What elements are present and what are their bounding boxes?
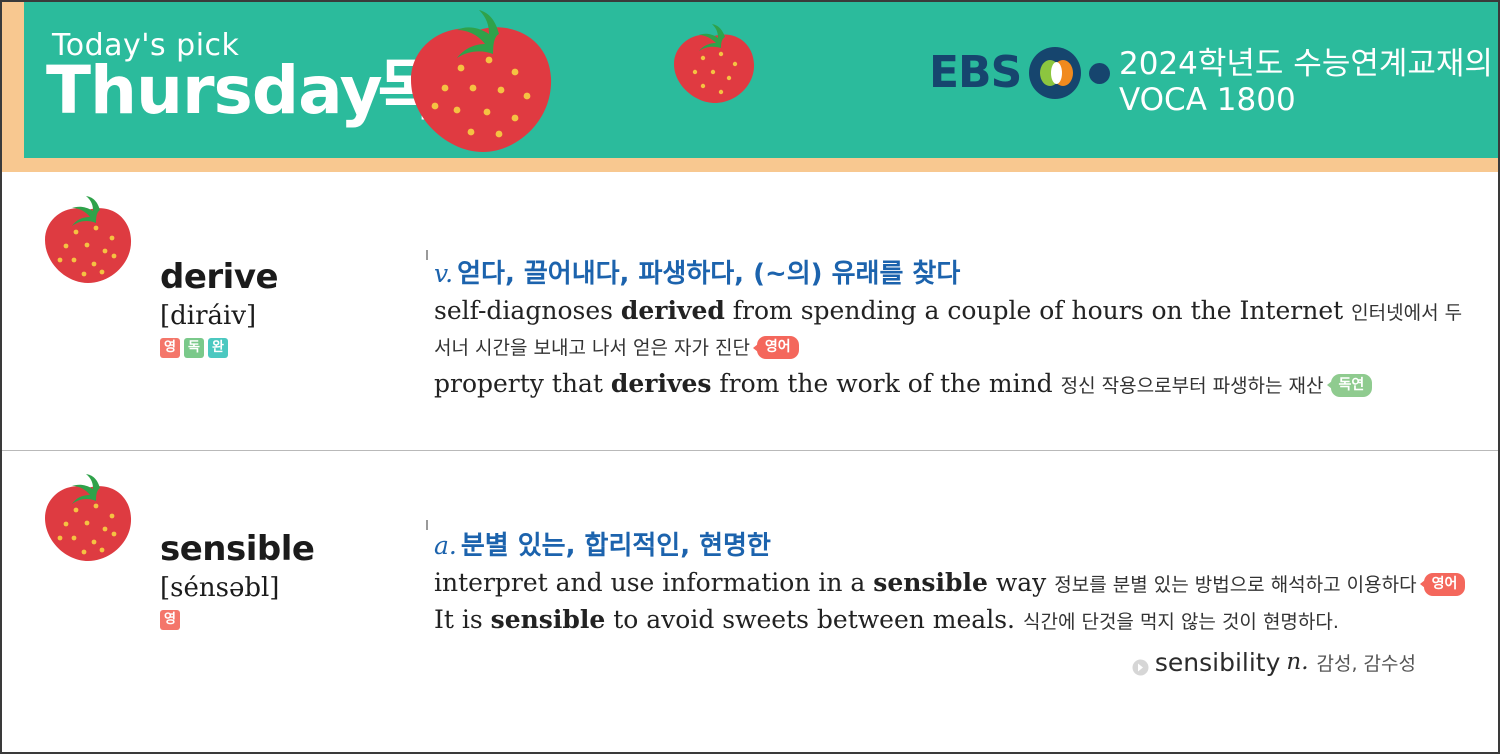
source-tag: 완 [208,338,228,358]
definition-tick-mark [426,250,428,260]
entry-divider [2,450,1498,451]
part-of-speech: a. [434,531,457,560]
entry-content: v.얻다, 끌어내다, 파생하다, (~의) 유래를 찾다 self-diagn… [434,258,1474,401]
source-tag: 독 [184,338,204,358]
ebs-wordmark: EBS [929,51,1021,95]
headword-block: derive [diráiv] 영 독 완 [160,258,410,358]
example-pre: It is [434,605,491,634]
headword: sensible [160,530,410,569]
ebs-logo-mark-icon [1029,47,1119,99]
example-pre: property that [434,369,611,398]
example-post: way [988,568,1046,597]
source-badge: 독연 [1331,374,1373,397]
strawberry-icon [42,196,134,289]
example-keyword: derives [611,369,712,398]
headword: derive [160,258,410,297]
example-pre: self-diagnoses [434,296,621,325]
ebs-logo: EBS [929,47,1119,99]
vocabulary-entry: sensible [sénsəbl] 영 a.분별 있는, 합리적인, 현명한 … [2,452,1498,752]
strawberry-icon [399,10,559,158]
source-tag-list: 영 [160,610,410,630]
vocabulary-entry: derive [diráiv] 영 독 완 v.얻다, 끌어내다, 파생하다, … [2,174,1498,450]
example-keyword: sensible [873,568,988,597]
derivative-word: sensibility [1155,648,1281,677]
definition-text: 분별 있는, 합리적인, 현명한 [461,531,771,561]
entry-content: a.분별 있는, 합리적인, 현명한 interpret and use inf… [434,530,1474,677]
header-banner-inner: Today's pick Thursday 목 [24,2,1498,158]
strawberry-icon-small [669,24,759,109]
source-tag: 영 [160,610,180,630]
example-post: from spending a couple of hours on the I… [725,296,1343,325]
source-tag: 영 [160,338,180,358]
day-title-english: Thursday [46,58,382,124]
example-keyword: sensible [491,605,606,634]
example-keyword: derived [621,296,725,325]
header-banner: Today's pick Thursday 목 [2,2,1498,172]
source-tag-list: 영 독 완 [160,338,410,358]
example-pre: interpret and use information in a [434,568,873,597]
derivative-part-of-speech: n. [1286,649,1308,675]
example-post: to avoid sweets between meals. [605,605,1015,634]
pronunciation: [diráiv] [160,301,410,332]
arrow-circle-right-icon [1132,654,1149,671]
example-sentence: interpret and use information in a sensi… [434,565,1474,601]
example-sentence: self-diagnoses derived from spending a c… [434,293,1474,364]
day-title: Thursday 목 [46,58,438,124]
example-translation: 정보를 분별 있는 방법으로 해석하고 이용하다 [1054,574,1416,596]
example-translation: 정신 작용으로부터 파생하는 재산 [1061,375,1324,397]
example-sentence: It is sensible to avoid sweets between m… [434,602,1474,638]
definition-tick-mark [426,520,428,530]
source-badge: 영어 [1424,573,1466,596]
series-title-line2: VOCA 1800 [1119,82,1493,118]
example-translation: 식간에 단것을 먹지 않는 것이 현명하다. [1023,611,1339,633]
derivative-line: sensibility n. 감성, 감수성 [434,648,1474,677]
headword-block: sensible [sénsəbl] 영 [160,530,410,630]
part-of-speech: v. [434,259,453,288]
definition-line: v.얻다, 끌어내다, 파생하다, (~의) 유래를 찾다 [434,258,1474,291]
series-title: 2024학년도 수능연계교재의 VOCA 1800 [1119,46,1493,118]
definition-text: 얻다, 끌어내다, 파생하다, (~의) 유래를 찾다 [457,259,960,289]
strawberry-icon [42,474,134,567]
definition-line: a.분별 있는, 합리적인, 현명한 [434,530,1474,563]
pronunciation: [sénsəbl] [160,573,410,604]
example-post: from the work of the mind [711,369,1052,398]
example-sentence: property that derives from the work of t… [434,366,1474,402]
vocabulary-card-page: Today's pick Thursday 목 [0,0,1500,754]
source-badge: 영어 [757,336,799,359]
series-title-line1: 2024학년도 수능연계교재의 [1119,46,1493,82]
derivative-translation: 감성, 감수성 [1317,649,1416,676]
